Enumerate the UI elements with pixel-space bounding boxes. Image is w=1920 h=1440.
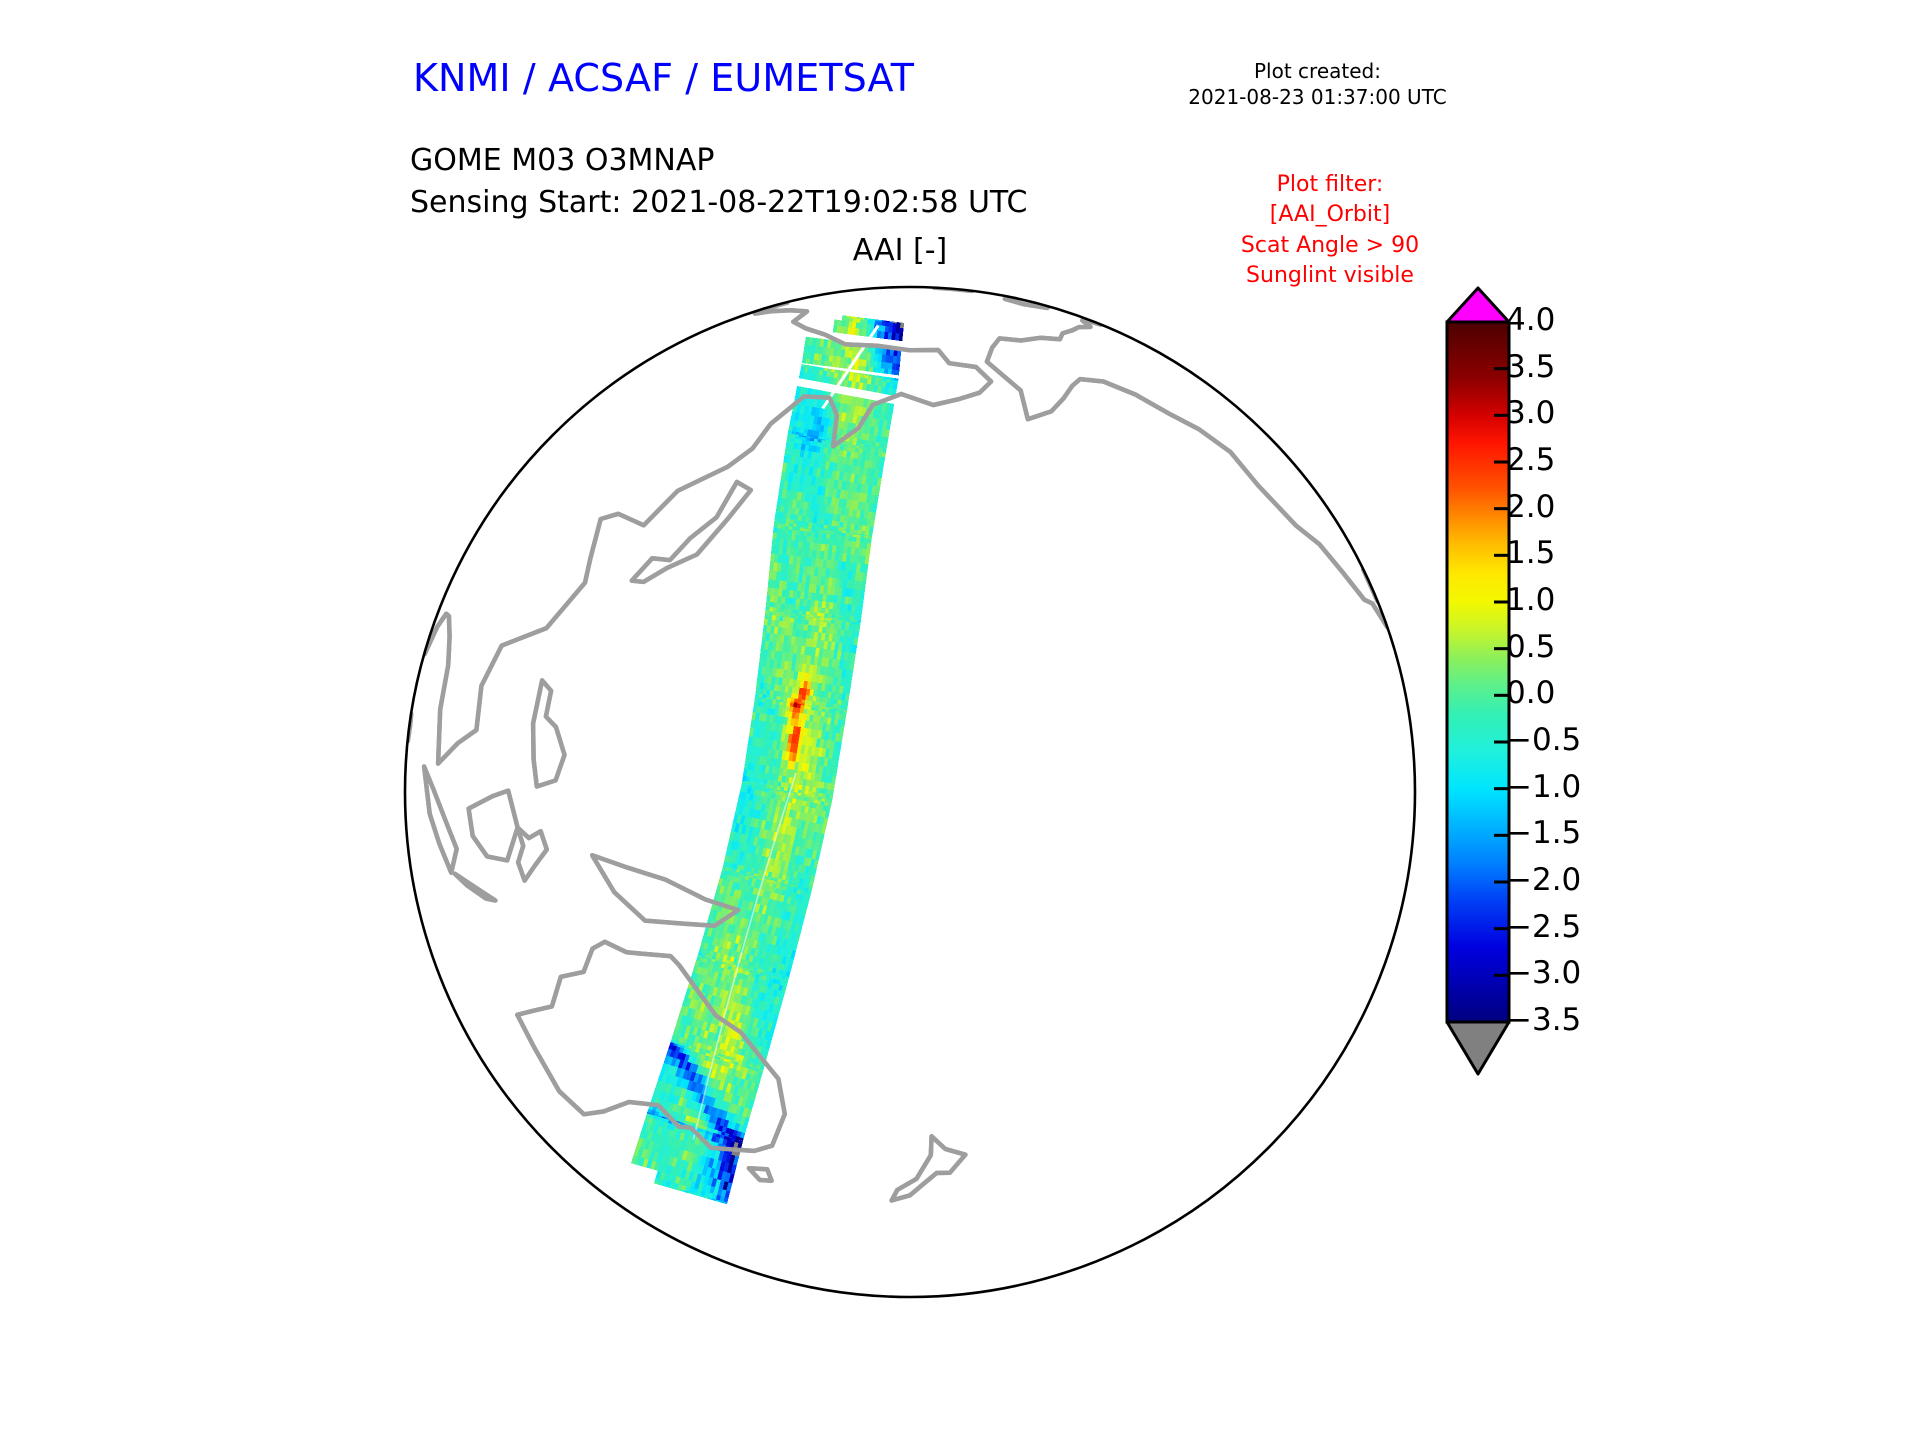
globe-map bbox=[395, 272, 1425, 1312]
colorbar-tick-label: 0.5 bbox=[1506, 632, 1555, 663]
plot-created-block: Plot created: 2021-08-23 01:37:00 UTC bbox=[1155, 58, 1480, 111]
plot-filter-line-1: [AAI_Orbit] bbox=[1185, 200, 1475, 230]
dataset-name: GOME M03 O3MNAP bbox=[410, 140, 1027, 182]
page-title: AAI [-] bbox=[700, 233, 1100, 268]
colorbar-tick-label: 1.5 bbox=[1506, 538, 1555, 569]
plot-page: KNMI / ACSAF / EUMETSAT Plot created: 20… bbox=[0, 0, 1920, 1440]
plot-filter-line-2: Scat Angle > 90 bbox=[1185, 231, 1475, 261]
colorbar-tick-label: −2.5 bbox=[1506, 912, 1581, 943]
plot-created-time: 2021-08-23 01:37:00 UTC bbox=[1155, 84, 1480, 110]
dataset-block: GOME M03 O3MNAP Sensing Start: 2021-08-2… bbox=[410, 140, 1027, 224]
colorbar-tick-label: 2.5 bbox=[1506, 445, 1555, 476]
colorbar-tick-label: 4.0 bbox=[1506, 305, 1555, 336]
colorbar-tick-label: −1.5 bbox=[1506, 818, 1581, 849]
colorbar-tick-label: 3.0 bbox=[1506, 398, 1555, 429]
colorbar: 4.03.53.02.52.01.51.00.50.0−0.5−1.0−1.5−… bbox=[1432, 282, 1692, 1082]
colorbar-tick-label: 2.0 bbox=[1506, 492, 1555, 523]
plot-created-label: Plot created: bbox=[1155, 58, 1480, 84]
colorbar-tick-label: −1.0 bbox=[1506, 772, 1581, 803]
map-canvas bbox=[395, 272, 1425, 1312]
colorbar-tick-label: −3.5 bbox=[1506, 1005, 1581, 1036]
colorbar-under-arrow bbox=[1447, 1022, 1509, 1074]
colorbar-tick-label: −3.0 bbox=[1506, 958, 1581, 989]
globe-disc bbox=[405, 287, 1415, 1297]
colorbar-gradient bbox=[1447, 322, 1509, 1022]
sensing-start: Sensing Start: 2021-08-22T19:02:58 UTC bbox=[410, 182, 1027, 224]
colorbar-tick-label: 1.0 bbox=[1506, 585, 1555, 616]
colorbar-over-arrow bbox=[1447, 288, 1509, 322]
colorbar-tick-label: 3.5 bbox=[1506, 352, 1555, 383]
colorbar-tick-label: −2.0 bbox=[1506, 865, 1581, 896]
colorbar-tick-label: −0.5 bbox=[1506, 725, 1581, 756]
plot-filter-label: Plot filter: bbox=[1185, 170, 1475, 200]
colorbar-tick-label: 0.0 bbox=[1506, 678, 1555, 709]
organisation-title: KNMI / ACSAF / EUMETSAT bbox=[413, 56, 914, 100]
